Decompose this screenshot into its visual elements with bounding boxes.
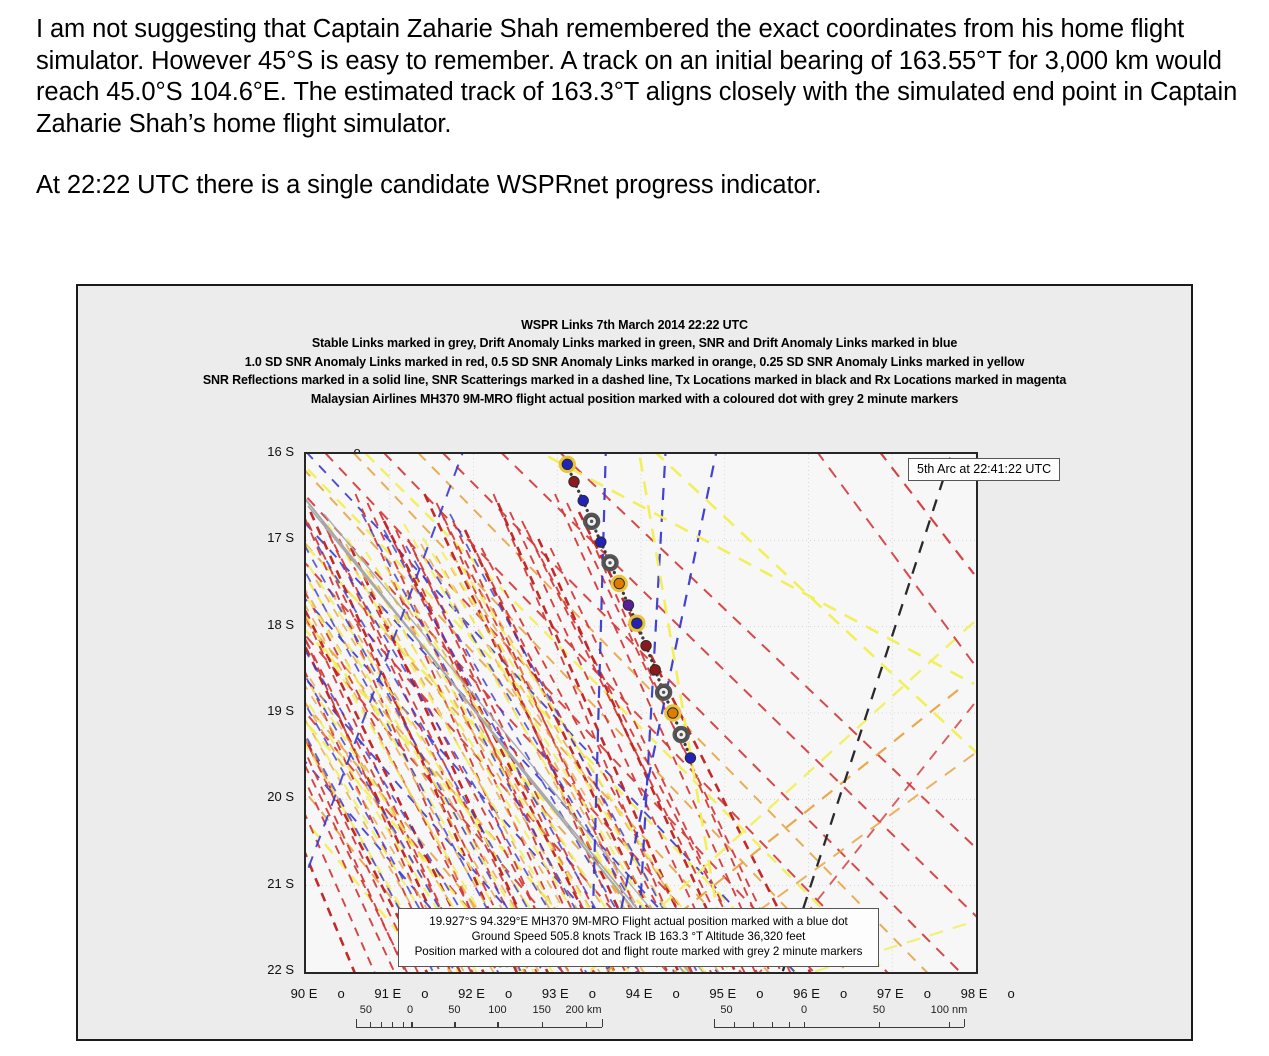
scale-bar-label: 50	[873, 1004, 885, 1016]
wspr-figure: WSPR Links 7th March 2014 22:22 UTC Stab…	[76, 284, 1193, 1041]
mh370-flight-track	[306, 454, 976, 972]
scale-bar-ruler	[356, 1018, 602, 1028]
article-text: I am not suggesting that Captain Zaharie…	[36, 14, 1268, 202]
scale-bar-km: 50050100150200 km	[356, 1004, 602, 1028]
info-line-2: Ground Speed 505.8 knots Track IB 163.3 …	[405, 929, 872, 944]
scale-bar-labels: 50050100150200 km	[356, 1004, 602, 1018]
x-tick-label: 95o E	[688, 986, 758, 1001]
x-tick-label: 90o E	[269, 986, 339, 1001]
scale-bar-label: 50	[720, 1004, 732, 1016]
x-tick-label: 91o E	[353, 986, 423, 1001]
scale-bar-label: 100	[488, 1004, 506, 1016]
info-line-1: 19.927°S 94.329°E MH370 9M-MRO Flight ac…	[405, 914, 872, 929]
position-info-box: 19.927°S 94.329°E MH370 9M-MRO Flight ac…	[398, 908, 879, 967]
scale-bar-label: 0	[801, 1004, 807, 1016]
x-tick-label: 97o E	[855, 986, 925, 1001]
info-line-3: Position marked with a coloured dot and …	[405, 944, 872, 959]
scale-bar-label: 50	[448, 1004, 460, 1016]
x-tick-label: 94o E	[604, 986, 674, 1001]
paragraph-2: At 22:22 UTC there is a single candidate…	[36, 170, 1268, 202]
x-tick-label: 93o E	[520, 986, 590, 1001]
scale-bar-label: 0	[407, 1004, 413, 1016]
scale-bar-label: 50	[360, 1004, 372, 1016]
x-tick-label: 96o E	[772, 986, 842, 1001]
scale-bar-label: 200 km	[566, 1004, 602, 1016]
scale-bar-label: 150	[533, 1004, 551, 1016]
scale-bar-label: 100 nm	[931, 1004, 968, 1016]
scale-bar-labels: 50050100 nm	[714, 1004, 964, 1018]
fifth-arc-label: 5th Arc at 22:41:22 UTC	[908, 458, 1060, 481]
x-tick-label: 92o E	[437, 986, 507, 1001]
scale-bar-nm: 50050100 nm	[714, 1004, 964, 1028]
scale-bar-ruler	[714, 1018, 964, 1028]
paragraph-1: I am not suggesting that Captain Zaharie…	[36, 14, 1268, 140]
map-plot-area	[304, 452, 978, 974]
x-tick-label: 98o E	[939, 986, 1009, 1001]
